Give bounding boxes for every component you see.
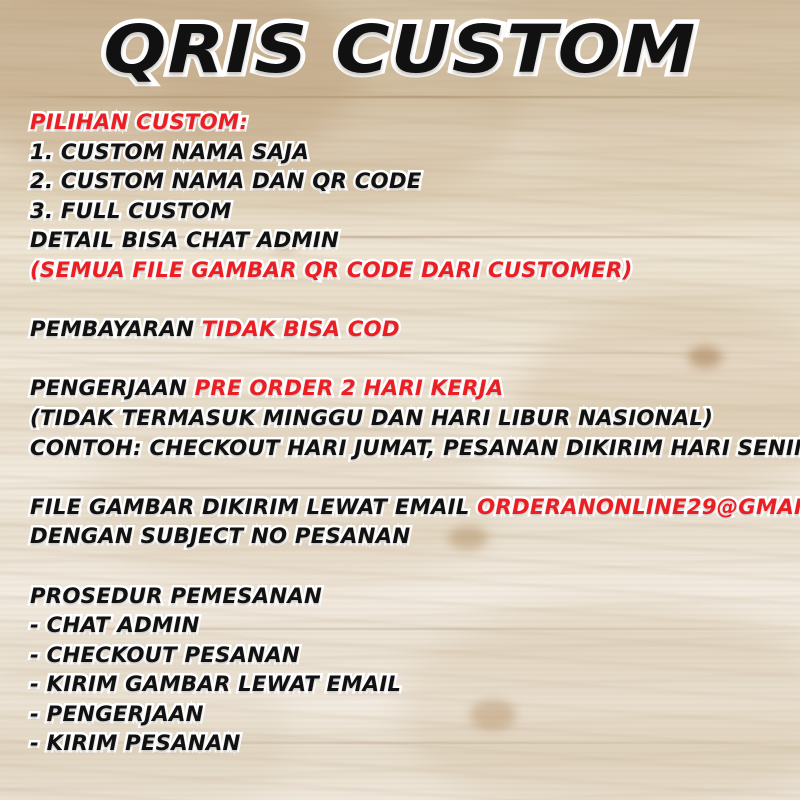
options-item-2: 2. CUSTOM NAMA DAN QR CODE [30,167,777,197]
poster-content: QRIS CUSTOM PILIHAN CUSTOM: 1. CUSTOM NA… [0,0,800,800]
block-spacer [30,552,785,582]
email-address: ORDERANONLINE29@GMAIL.COM [477,495,800,520]
payment-line: PEMBAYARAN TIDAK BISA COD [30,315,777,345]
procedure-step-5: - KIRIM PESANAN [30,729,777,759]
email-subject-note: DENGAN SUBJECT NO PESANAN [30,522,777,552]
page-title: QRIS CUSTOM [0,8,800,92]
poster-body: PILIHAN CUSTOM: 1. CUSTOM NAMA SAJA 2. C… [30,108,785,759]
email-line: FILE GAMBAR DIKIRIM LEWAT EMAIL ORDERANO… [30,493,777,523]
processing-label: PENGERJAAN [30,376,195,401]
options-note: (SEMUA FILE GAMBAR QR CODE DARI CUSTOMER… [30,256,777,286]
block-spacer [30,463,785,493]
email-label: FILE GAMBAR DIKIRIM LEWAT EMAIL [30,495,477,520]
processing-line: PENGERJAAN PRE ORDER 2 HARI KERJA [30,374,777,404]
options-heading: PILIHAN CUSTOM: [30,108,777,138]
block-spacer [30,345,785,375]
options-item-1: 1. CUSTOM NAMA SAJA [30,138,777,168]
options-item-3: 3. FULL CUSTOM [30,197,777,227]
payment-highlight: TIDAK BISA COD [202,317,400,342]
promo-poster: QRIS CUSTOM PILIHAN CUSTOM: 1. CUSTOM NA… [0,0,800,800]
processing-example: CONTOH: CHECKOUT HARI JUMAT, PESANAN DIK… [30,434,777,464]
payment-label: PEMBAYARAN [30,317,202,342]
procedure-step-3: - KIRIM GAMBAR LEWAT EMAIL [30,670,777,700]
procedure-step-1: - CHAT ADMIN [30,611,777,641]
procedure-step-4: - PENGERJAAN [30,700,777,730]
options-detail: DETAIL BISA CHAT ADMIN [30,226,777,256]
processing-exclusion: (TIDAK TERMASUK MINGGU DAN HARI LIBUR NA… [30,404,777,434]
procedure-heading: PROSEDUR PEMESANAN [30,582,777,612]
block-spacer [30,286,785,316]
procedure-step-2: - CHECKOUT PESANAN [30,641,777,671]
processing-highlight: PRE ORDER 2 HARI KERJA [195,376,504,401]
